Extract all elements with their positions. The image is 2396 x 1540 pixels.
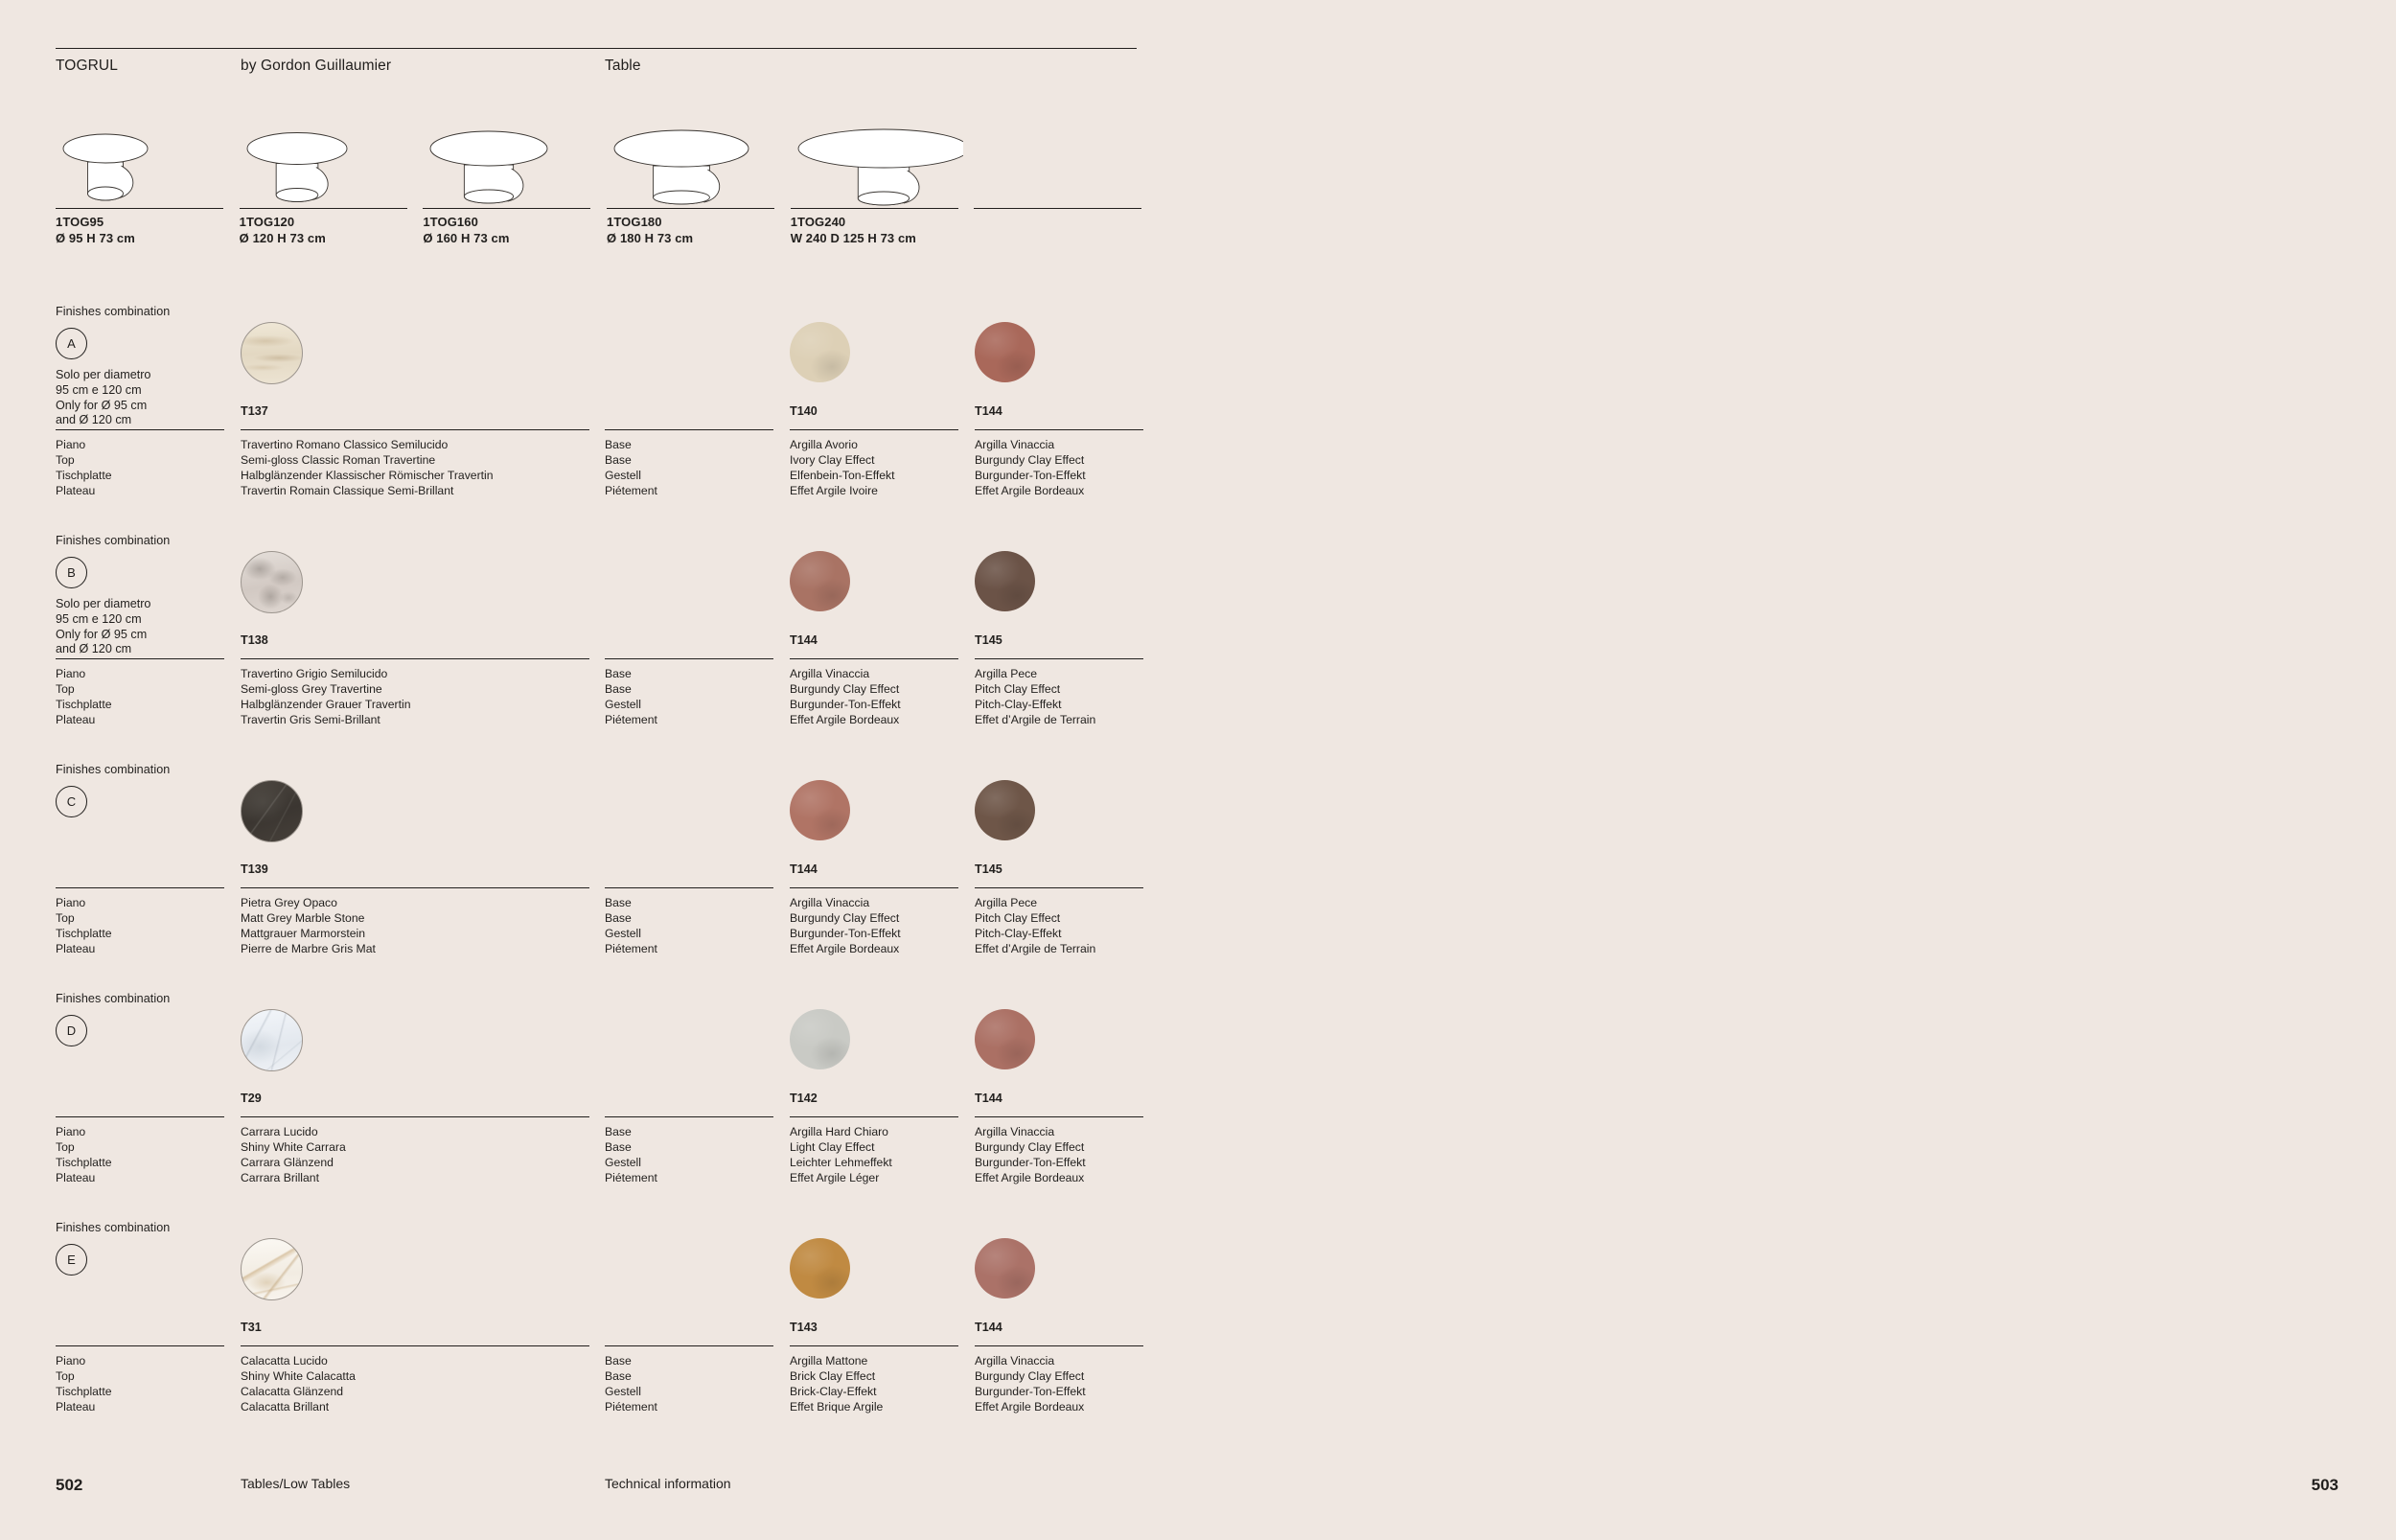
desc-divider [975, 658, 1143, 659]
top-material-description: Pietra Grey Opaco Matt Grey Marble Stone… [241, 895, 605, 956]
model-code: 1TOG95 [56, 215, 240, 229]
base-label: Base Base Gestell Piétement [605, 1353, 790, 1414]
desc-divider [975, 887, 1143, 888]
model-dimensions: W 240 D 125 H 73 cm [791, 231, 975, 245]
swatch-t145 [975, 551, 1035, 611]
swatch-t137 [241, 322, 303, 384]
base-finish-description-cell: Argilla Vinaccia Burgundy Clay Effect Bu… [790, 658, 975, 727]
desc-divider [56, 1116, 224, 1117]
swatch-code: T139 [241, 862, 268, 876]
product-designer: by Gordon Guillaumier [241, 57, 605, 75]
top-label-cell: Piano Top Tischplatte Plateau [56, 887, 241, 956]
product-name: TOGRUL [56, 57, 241, 75]
table-drawing [791, 120, 975, 206]
swatch-t138 [241, 551, 303, 613]
desc-divider [56, 429, 224, 430]
top-material-description: Travertino Romano Classico Semilucido Se… [241, 437, 605, 498]
top-label-cell: Piano Top Tischplatte Plateau [56, 1345, 241, 1414]
table-silhouette-svg [791, 120, 963, 206]
combination-badge: B [56, 557, 87, 588]
swatch-t145 [975, 780, 1035, 840]
finishes-row-d: Finishes combination D T29 T142 T144 Pia… [56, 992, 1163, 1221]
model-divider [607, 208, 774, 209]
top-material-description-cell: Travertino Romano Classico Semilucido Se… [241, 429, 605, 498]
base-label-cell: Base Base Gestell Piétement [605, 658, 790, 727]
swatch-slot: T145 [975, 763, 1160, 887]
finishes-row-swatches: Finishes combination D T29 T142 T144 [56, 992, 1163, 1116]
base-label-cell: Base Base Gestell Piétement [605, 1345, 790, 1414]
swatch-slot: T144 [790, 534, 975, 658]
desc-divider [56, 887, 224, 888]
base-finish-description: Argilla Vinaccia Burgundy Clay Effect Bu… [975, 437, 1160, 498]
combination-badge: E [56, 1244, 87, 1276]
finishes-row-a: Finishes combination A Solo per diametro… [56, 305, 1163, 534]
table-drawing-empty [974, 120, 1158, 206]
base-finish-description: Argilla Avorio Ivory Clay Effect Elfenbe… [790, 437, 975, 498]
swatch-slot-empty [605, 763, 790, 887]
swatch-t31 [241, 1238, 303, 1300]
desc-divider [241, 429, 589, 430]
top-material-description-cell: Calacatta Lucido Shiny White Calacatta C… [241, 1345, 605, 1414]
table-drawing [240, 120, 424, 206]
base-finish-swatch-cell: T144 [975, 992, 1160, 1116]
combination-badge: D [56, 1015, 87, 1046]
finishes-row-descriptions: Piano Top Tischplatte Plateau Travertino… [56, 429, 1163, 498]
top-material-description: Calacatta Lucido Shiny White Calacatta C… [241, 1353, 605, 1414]
table-silhouette-svg [423, 120, 595, 206]
finishes-row-descriptions: Piano Top Tischplatte Plateau Travertino… [56, 658, 1163, 727]
finishes-row-swatches: Finishes combination C T139 T144 T145 [56, 763, 1163, 887]
model-divider [56, 208, 223, 209]
finishes-row-descriptions: Piano Top Tischplatte Plateau Carrara Lu… [56, 1116, 1163, 1185]
swatch-t144 [790, 780, 850, 840]
table-silhouette-svg [607, 120, 779, 206]
desc-divider [56, 1345, 224, 1346]
top-material-description-cell: Travertino Grigio Semilucido Semi-gloss … [241, 658, 605, 727]
swatch-t139 [241, 780, 303, 842]
combination-badge: C [56, 786, 87, 817]
base-finish-description: Argilla Vinaccia Burgundy Clay Effect Bu… [975, 1124, 1160, 1185]
finishes-row-b: Finishes combination B Solo per diametro… [56, 534, 1163, 763]
swatch-t142 [790, 1009, 850, 1069]
page-number-left: 502 [56, 1476, 241, 1495]
availability-note: Solo per diametro 95 cm e 120 cm Only fo… [56, 368, 241, 428]
base-label: Base Base Gestell Piétement [605, 1124, 790, 1185]
catalogue-spread: TOGRUL by Gordon Guillaumier Table 1TOG9… [0, 0, 2396, 1540]
swatch-code: T31 [241, 1321, 262, 1334]
finishes-row-e: Finishes combination E T31 T143 T144 Pia… [56, 1221, 1163, 1450]
swatch-code: T140 [790, 404, 818, 418]
base-label: Base Base Gestell Piétement [605, 437, 790, 498]
model-1tog120: 1TOG120 Ø 120 H 73 cm [240, 120, 424, 245]
swatch-slot: T145 [975, 534, 1160, 658]
base-finish-description: Argilla Vinaccia Burgundy Clay Effect Bu… [790, 666, 975, 727]
desc-divider [605, 1116, 773, 1117]
model-divider [240, 208, 407, 209]
swatch-slot: T140 [790, 305, 975, 429]
swatch-code: T145 [975, 862, 1002, 876]
swatch-code: T143 [790, 1321, 818, 1334]
base-finish-description: Argilla Mattone Brick Clay Effect Brick-… [790, 1353, 975, 1414]
swatch-code: T144 [975, 1321, 1002, 1334]
swatch-code: T144 [975, 1092, 1002, 1105]
desc-divider [790, 1116, 958, 1117]
model-dimensions: Ø 180 H 73 cm [607, 231, 791, 245]
finishes-combination-label-cell: Finishes combination C [56, 763, 241, 887]
swatch-t144 [790, 551, 850, 611]
swatch-slot-empty [605, 1221, 790, 1345]
top-label: Piano Top Tischplatte Plateau [56, 1124, 241, 1185]
model-1tog180: 1TOG180 Ø 180 H 73 cm [607, 120, 791, 245]
base-label: Base Base Gestell Piétement [605, 895, 790, 956]
desc-divider [790, 1345, 958, 1346]
finishes-combination-label-cell: Finishes combination A Solo per diametro… [56, 305, 241, 429]
desc-divider [975, 429, 1143, 430]
swatch-code: T144 [975, 404, 1002, 418]
model-dimensions: Ø 160 H 73 cm [423, 231, 607, 245]
desc-divider [241, 658, 589, 659]
model-1tog160: 1TOG160 Ø 160 H 73 cm [423, 120, 607, 245]
page-number-right: 503 [2312, 1476, 2338, 1495]
base-finish-swatch-cell: T144 [790, 763, 975, 887]
swatch-code: T138 [241, 633, 268, 647]
finishes-row-descriptions: Piano Top Tischplatte Plateau Pietra Gre… [56, 887, 1163, 956]
base-finish-swatch-cell: T143 [790, 1221, 975, 1345]
model-dimensions: Ø 120 H 73 cm [240, 231, 424, 245]
top-material-swatch-cell: T138 [241, 534, 605, 658]
desc-divider [605, 658, 773, 659]
header-divider [56, 48, 1137, 49]
base-finish-swatch-cell: T145 [975, 534, 1160, 658]
model-slot-empty [974, 120, 1158, 245]
finishes-row-swatches: Finishes combination E T31 T143 T144 [56, 1221, 1163, 1345]
swatch-slot: T139 [241, 763, 605, 887]
swatch-t140 [790, 322, 850, 382]
base-finish-swatch-cell: T144 [975, 1221, 1160, 1345]
base-label-cell: Base Base Gestell Piétement [605, 887, 790, 956]
swatch-code: T142 [790, 1092, 818, 1105]
base-label: Base Base Gestell Piétement [605, 666, 790, 727]
swatch-slot: T138 [241, 534, 605, 658]
swatch-slot-empty [605, 305, 790, 429]
swatch-slot: T143 [790, 1221, 975, 1345]
top-material-description-cell: Pietra Grey Opaco Matt Grey Marble Stone… [241, 887, 605, 956]
finishes-table: Finishes combination A Solo per diametro… [56, 305, 1163, 1450]
swatch-slot: T144 [975, 992, 1160, 1116]
top-label-cell: Piano Top Tischplatte Plateau [56, 658, 241, 727]
top-label: Piano Top Tischplatte Plateau [56, 895, 241, 956]
finishes-combination-title: Finishes combination [56, 305, 241, 318]
swatch-slot: T31 [241, 1221, 605, 1345]
swatch-slot: T29 [241, 992, 605, 1116]
swatch-t144 [975, 1238, 1035, 1299]
finishes-combination-label-cell: Finishes combination E [56, 1221, 241, 1345]
base-finish-description-cell: Argilla Pece Pitch Clay Effect Pitch-Cla… [975, 887, 1160, 956]
desc-divider [605, 1345, 773, 1346]
desc-divider [790, 429, 958, 430]
desc-divider [605, 887, 773, 888]
base-finish-description-cell: Argilla Vinaccia Burgundy Clay Effect Bu… [975, 429, 1160, 498]
base-finish-swatch-cell: T144 [790, 534, 975, 658]
availability-note: Solo per diametro 95 cm e 120 cm Only fo… [56, 597, 241, 657]
swatch-code: T29 [241, 1092, 262, 1105]
swatch-slot-empty [605, 534, 790, 658]
footer-section: Technical information [605, 1476, 892, 1495]
swatch-slot: T137 [241, 305, 605, 429]
base-label-cell: Base Base Gestell Piétement [605, 1116, 790, 1185]
model-divider [423, 208, 590, 209]
base-finish-description-cell: Argilla Avorio Ivory Clay Effect Elfenbe… [790, 429, 975, 498]
top-material-swatch-cell: T137 [241, 305, 605, 429]
finishes-row-descriptions: Piano Top Tischplatte Plateau Calacatta … [56, 1345, 1163, 1414]
table-drawing [56, 120, 240, 206]
desc-divider [790, 658, 958, 659]
swatch-t144 [975, 322, 1035, 382]
base-finish-description: Argilla Pece Pitch Clay Effect Pitch-Cla… [975, 666, 1160, 727]
desc-divider [790, 887, 958, 888]
desc-divider [241, 1345, 589, 1346]
finishes-combination-label-cell: Finishes combination B Solo per diametro… [56, 534, 241, 658]
footer-category: Tables/Low Tables [241, 1476, 605, 1495]
product-category: Table [605, 57, 796, 75]
top-label: Piano Top Tischplatte Plateau [56, 666, 241, 727]
swatch-code: T145 [975, 633, 1002, 647]
base-finish-description-cell: Argilla Vinaccia Burgundy Clay Effect Bu… [975, 1345, 1160, 1414]
swatch-slot: T144 [790, 763, 975, 887]
page-right: Technicalinformation Accessories 503 [1198, 0, 2396, 1540]
finishes-combination-title: Finishes combination [56, 1221, 241, 1234]
model-code: 1TOG160 [423, 215, 607, 229]
top-label: Piano Top Tischplatte Plateau [56, 1353, 241, 1414]
desc-divider [56, 658, 224, 659]
top-label-cell: Piano Top Tischplatte Plateau [56, 429, 241, 498]
base-finish-swatch-cell: T144 [975, 305, 1160, 429]
model-dimensions: Ø 95 H 73 cm [56, 231, 240, 245]
top-material-swatch-cell: T29 [241, 992, 605, 1116]
base-finish-description-cell: Argilla Pece Pitch Clay Effect Pitch-Cla… [975, 658, 1160, 727]
desc-divider [241, 887, 589, 888]
base-label-spacer [605, 305, 790, 429]
swatch-slot: T142 [790, 992, 975, 1116]
base-finish-swatch-cell: T142 [790, 992, 975, 1116]
desc-divider [975, 1345, 1143, 1346]
model-divider [974, 208, 1141, 209]
base-label-spacer [605, 534, 790, 658]
swatch-code: T144 [790, 862, 818, 876]
swatch-code: T137 [241, 404, 268, 418]
model-1tog240: 1TOG240 W 240 D 125 H 73 cm [791, 120, 975, 245]
swatch-t143 [790, 1238, 850, 1299]
finishes-combination-title: Finishes combination [56, 534, 241, 547]
swatch-slot-empty [605, 992, 790, 1116]
top-label: Piano Top Tischplatte Plateau [56, 437, 241, 498]
model-code: 1TOG180 [607, 215, 791, 229]
desc-divider [975, 1116, 1143, 1117]
swatch-slot: T144 [975, 1221, 1160, 1345]
finishes-row-c: Finishes combination C T139 T144 T145 Pi… [56, 763, 1163, 992]
model-1tog95: 1TOG95 Ø 95 H 73 cm [56, 120, 240, 245]
base-label-spacer [605, 763, 790, 887]
top-material-description: Carrara Lucido Shiny White Carrara Carra… [241, 1124, 605, 1185]
finishes-row-swatches: Finishes combination B Solo per diametro… [56, 534, 1163, 658]
model-code: 1TOG120 [240, 215, 424, 229]
base-finish-description: Argilla Pece Pitch Clay Effect Pitch-Cla… [975, 895, 1160, 956]
finishes-combination-title: Finishes combination [56, 992, 241, 1005]
page-left: TOGRUL by Gordon Guillaumier Table 1TOG9… [0, 0, 1198, 1540]
swatch-t144 [975, 1009, 1035, 1069]
base-finish-swatch-cell: T140 [790, 305, 975, 429]
base-finish-description-cell: Argilla Mattone Brick Clay Effect Brick-… [790, 1345, 975, 1414]
desc-divider [241, 1116, 589, 1117]
base-finish-swatch-cell: T145 [975, 763, 1160, 887]
base-finish-description: Argilla Hard Chiaro Light Clay Effect Le… [790, 1124, 975, 1185]
finishes-row-swatches: Finishes combination A Solo per diametro… [56, 305, 1163, 429]
model-strip: 1TOG95 Ø 95 H 73 cm 1TOG120 Ø 120 H 73 c… [56, 120, 1158, 245]
desc-divider [605, 429, 773, 430]
footer-left: 502 Tables/Low Tables Technical informat… [56, 1476, 1158, 1495]
finishes-combination-title: Finishes combination [56, 763, 241, 776]
base-label-spacer [605, 992, 790, 1116]
base-finish-description-cell: Argilla Vinaccia Burgundy Clay Effect Bu… [790, 887, 975, 956]
model-code: 1TOG240 [791, 215, 975, 229]
base-finish-description-cell: Argilla Hard Chiaro Light Clay Effect Le… [790, 1116, 975, 1185]
product-header: TOGRUL by Gordon Guillaumier Table [56, 57, 1148, 75]
base-finish-description: Argilla Vinaccia Burgundy Clay Effect Bu… [975, 1353, 1160, 1414]
model-divider [791, 208, 958, 209]
top-material-swatch-cell: T31 [241, 1221, 605, 1345]
swatch-slot: T144 [975, 305, 1160, 429]
swatch-code: T144 [790, 633, 818, 647]
combination-badge: A [56, 328, 87, 359]
swatch-t29 [241, 1009, 303, 1071]
finishes-combination-label-cell: Finishes combination D [56, 992, 241, 1116]
table-drawing [423, 120, 607, 206]
top-material-description-cell: Carrara Lucido Shiny White Carrara Carra… [241, 1116, 605, 1185]
base-label-spacer [605, 1221, 790, 1345]
table-drawing [607, 120, 791, 206]
base-label-cell: Base Base Gestell Piétement [605, 429, 790, 498]
top-material-description: Travertino Grigio Semilucido Semi-gloss … [241, 666, 605, 727]
top-material-swatch-cell: T139 [241, 763, 605, 887]
base-finish-description-cell: Argilla Vinaccia Burgundy Clay Effect Bu… [975, 1116, 1160, 1185]
table-silhouette-svg [240, 120, 412, 206]
base-finish-description: Argilla Vinaccia Burgundy Clay Effect Bu… [790, 895, 975, 956]
top-label-cell: Piano Top Tischplatte Plateau [56, 1116, 241, 1185]
table-silhouette-svg [56, 120, 228, 206]
